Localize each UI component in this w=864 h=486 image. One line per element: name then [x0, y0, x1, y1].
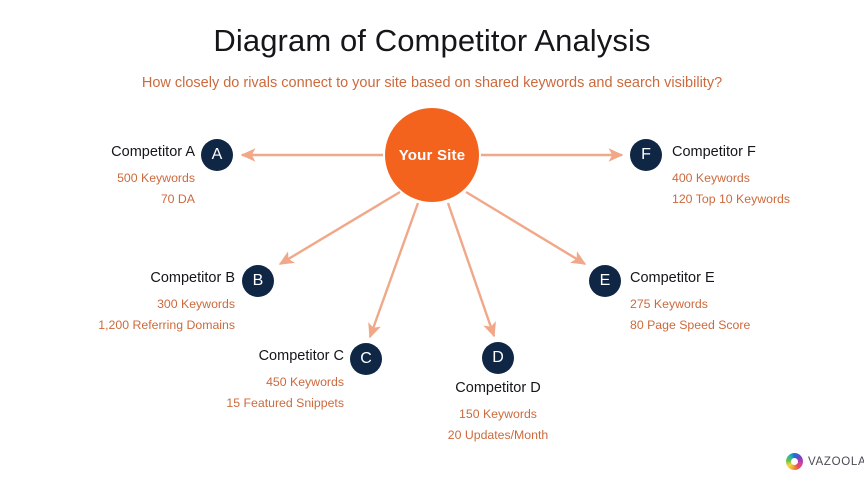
diagram-canvas: Diagram of Competitor Analysis How close…: [0, 0, 864, 486]
badge-competitor-d[interactable]: D: [482, 342, 514, 374]
stat-item: 300 Keywords: [55, 294, 235, 314]
stat-item: 450 Keywords: [170, 372, 344, 392]
connector-hub-to-e: [466, 192, 585, 264]
node-name-e: Competitor E: [630, 270, 780, 287]
stat-item: 400 Keywords: [672, 168, 847, 188]
vazoola-wordmark: VAZOOLA: [808, 456, 864, 468]
node-name-c: Competitor C: [170, 348, 344, 365]
badge-competitor-e[interactable]: E: [589, 265, 621, 297]
node-competitor-b[interactable]: Competitor B 300 Keywords 1,200 Referrin…: [55, 270, 235, 335]
node-stats-c: 450 Keywords 15 Featured Snippets: [170, 372, 344, 413]
stat-item: 15 Featured Snippets: [170, 393, 344, 413]
node-name-d: Competitor D: [408, 380, 588, 397]
node-stats-a: 500 Keywords 70 DA: [10, 168, 195, 209]
stat-item: 70 DA: [10, 189, 195, 209]
node-stats-e: 275 Keywords 80 Page Speed Score: [630, 294, 780, 335]
vazoola-logo: VAZOOLA: [786, 453, 864, 470]
badge-competitor-f[interactable]: F: [630, 139, 662, 171]
node-name-b: Competitor B: [55, 270, 235, 287]
node-competitor-d[interactable]: Competitor D 150 Keywords 20 Updates/Mon…: [408, 380, 588, 445]
node-stats-d: 150 Keywords 20 Updates/Month: [408, 404, 588, 445]
stat-item: 1,200 Referring Domains: [55, 315, 235, 335]
node-stats-b: 300 Keywords 1,200 Referring Domains: [55, 294, 235, 335]
hub-node-your-site[interactable]: Your Site: [385, 108, 479, 202]
stat-item: 275 Keywords: [630, 294, 780, 314]
stat-item: 150 Keywords: [408, 404, 588, 424]
node-competitor-c[interactable]: Competitor C 450 Keywords 15 Featured Sn…: [170, 348, 344, 413]
connector-hub-to-b: [280, 192, 400, 264]
badge-competitor-b[interactable]: B: [242, 265, 274, 297]
node-name-a: Competitor A: [10, 144, 195, 161]
vazoola-ring-icon: [786, 453, 803, 470]
node-competitor-a[interactable]: Competitor A 500 Keywords 70 DA: [10, 144, 195, 209]
connector-hub-to-c: [370, 203, 418, 337]
connector-hub-to-d: [448, 203, 494, 336]
hub-label: Your Site: [399, 147, 466, 164]
node-competitor-e[interactable]: Competitor E 275 Keywords 80 Page Speed …: [630, 270, 780, 335]
stat-item: 20 Updates/Month: [408, 425, 588, 445]
node-competitor-f[interactable]: Competitor F 400 Keywords 120 Top 10 Key…: [672, 144, 847, 209]
stat-item: 120 Top 10 Keywords: [672, 189, 847, 209]
badge-competitor-c[interactable]: C: [350, 343, 382, 375]
stat-item: 500 Keywords: [10, 168, 195, 188]
stat-item: 80 Page Speed Score: [630, 315, 780, 335]
node-name-f: Competitor F: [672, 144, 847, 161]
badge-competitor-a[interactable]: A: [201, 139, 233, 171]
node-stats-f: 400 Keywords 120 Top 10 Keywords: [672, 168, 847, 209]
